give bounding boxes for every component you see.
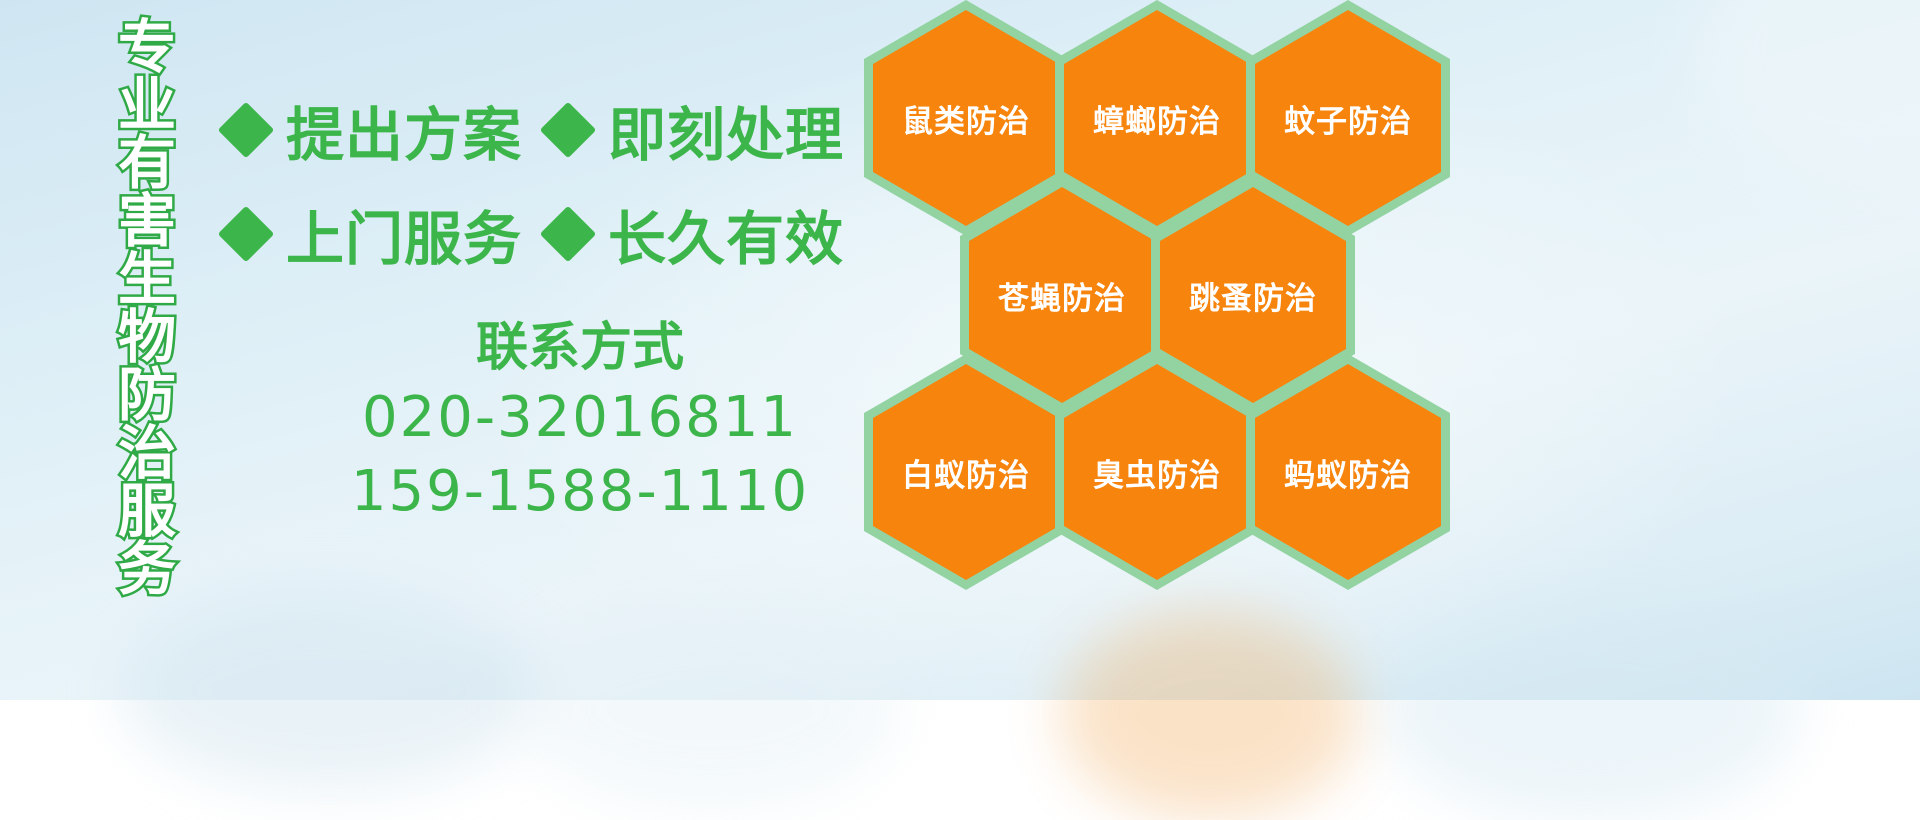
service-hex-grid: 鼠类防治 蟑螂防治 蚊子防治 苍蝇防治 跳蚤防治 — [858, 0, 1458, 700]
service-hex-ant[interactable]: 蚂蚁防治 — [1246, 354, 1450, 590]
feature-item-immediate-handling: 即刻处理 — [548, 88, 844, 172]
diamond-icon — [540, 206, 597, 263]
background-blob — [120, 590, 540, 790]
feature-item-long-lasting: 长久有效 — [548, 192, 844, 276]
feature-label: 提出方案 — [286, 88, 522, 172]
vertical-title-char: 生 — [118, 250, 176, 308]
feature-item-propose-plan: 提出方案 — [226, 88, 522, 172]
service-label: 苍蝇防治 — [998, 273, 1126, 318]
service-label: 鼠类防治 — [902, 96, 1030, 141]
vertical-title-char: 治 — [118, 424, 176, 482]
vertical-title-char: 服 — [118, 482, 176, 540]
feature-label: 即刻处理 — [608, 88, 844, 172]
contact-block: 联系方式 020-32016811 159-1588-1110 — [300, 316, 860, 529]
service-label: 蚊子防治 — [1284, 96, 1412, 141]
service-label: 臭虫防治 — [1093, 450, 1221, 495]
vertical-title-char: 专 — [118, 18, 176, 76]
contact-phone-mobile[interactable]: 159-1588-1110 — [300, 455, 860, 529]
feature-label: 长久有效 — [608, 192, 844, 276]
feature-item-door-service: 上门服务 — [226, 192, 522, 276]
service-hex-termite[interactable]: 白蚁防治 — [864, 354, 1068, 590]
background-blob — [1700, 0, 1920, 180]
service-hex-bedbug[interactable]: 臭虫防治 — [1055, 354, 1259, 590]
service-label: 白蚁防治 — [902, 450, 1030, 495]
diamond-icon — [218, 102, 275, 159]
background-blob — [520, 610, 900, 810]
service-label: 跳蚤防治 — [1189, 273, 1317, 318]
service-label: 蚂蚁防治 — [1284, 450, 1412, 495]
feature-list: 提出方案 即刻处理 上门服务 长久有效 — [226, 78, 886, 286]
vertical-title: 专 业 有 害 生 物 防 治 服 务 — [104, 18, 190, 548]
feature-row: 上门服务 长久有效 — [226, 182, 886, 286]
vertical-title-char: 有 — [118, 134, 176, 192]
pest-control-banner: 专 业 有 害 生 物 防 治 服 务 提出方案 即刻处理 上门服务 — [0, 0, 1920, 700]
diamond-icon — [540, 102, 597, 159]
contact-phone-landline[interactable]: 020-32016811 — [300, 381, 860, 455]
feature-label: 上门服务 — [286, 192, 522, 276]
contact-title: 联系方式 — [300, 316, 860, 381]
vertical-title-char: 务 — [118, 540, 176, 598]
vertical-title-char: 害 — [118, 192, 176, 250]
service-label: 蟑螂防治 — [1093, 96, 1221, 141]
vertical-title-char: 业 — [118, 76, 176, 134]
diamond-icon — [218, 206, 275, 263]
vertical-title-char: 防 — [118, 366, 176, 424]
feature-row: 提出方案 即刻处理 — [226, 78, 886, 182]
vertical-title-char: 物 — [118, 308, 176, 366]
